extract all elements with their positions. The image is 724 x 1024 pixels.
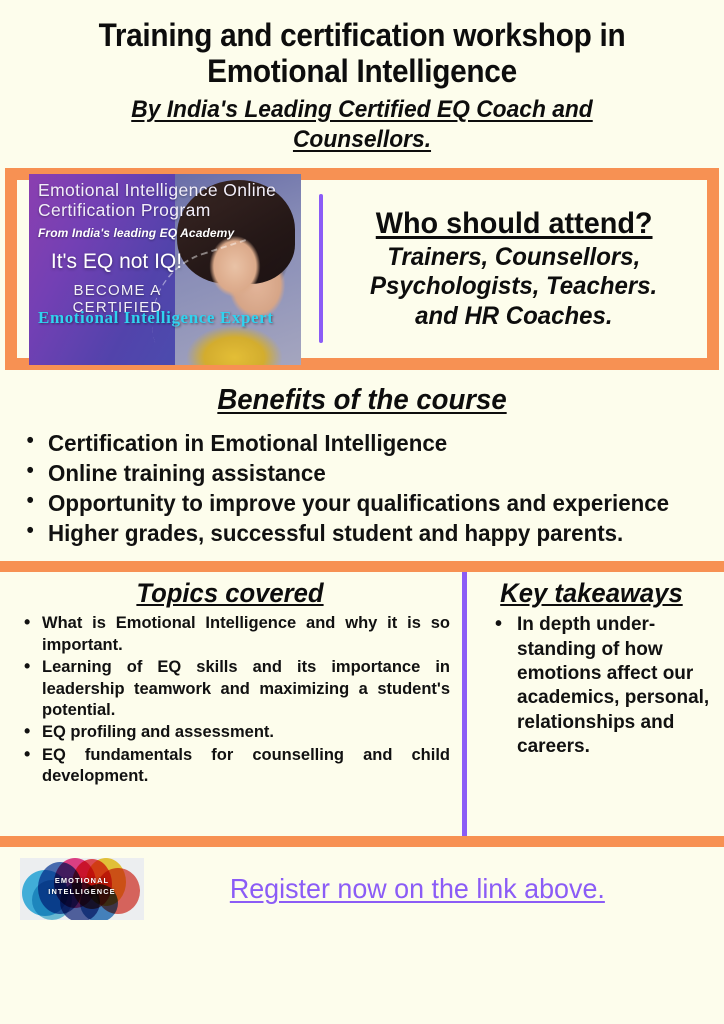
promo-card: Emotional Intelligence Online Certificat… (5, 168, 719, 370)
who-should-attend-line-1: Trainers, Counsellors, (388, 243, 641, 273)
who-should-attend-section: Who should attend? Trainers, Counsellors… (323, 185, 701, 353)
logo-caption: EMOTIONAL INTELLIGENCE (20, 876, 144, 897)
page-subtitle: By India's Leading Certified EQ Coach an… (56, 95, 668, 156)
key-takeaways-title: Key takeaways (487, 578, 710, 609)
key-takeaways-column: Key takeaways In depth under-standing of… (467, 572, 724, 836)
register-link[interactable]: Register now on the link above. (229, 873, 604, 905)
topics-covered-column: Topics covered What is Emotional Intelli… (0, 572, 462, 836)
who-should-attend-line-3: and HR Coaches. (415, 302, 612, 332)
logo-caption-line-1: EMOTIONAL (55, 876, 109, 885)
two-column-section: Topics covered What is Emotional Intelli… (0, 572, 724, 836)
benefits-list: Certification in Emotional Intelligence … (8, 429, 716, 547)
promo-academy-line: From India's leading EQ Academy (38, 226, 301, 240)
who-should-attend-line-2: Psychologists, Teachers. (370, 272, 657, 302)
who-should-attend-title: Who should attend? (376, 207, 653, 241)
register-container: Register now on the link above. (144, 873, 724, 905)
list-item: Learning of EQ skills and its importance… (42, 657, 450, 721)
topics-covered-title: Topics covered (21, 578, 439, 609)
page-header: Training and certification workshop in E… (0, 0, 724, 156)
logo-caption-line-2: INTELLIGENCE (48, 887, 115, 896)
page-title: Training and certification workshop in E… (63, 18, 662, 90)
promo-expert-line: Emotional Intelligence Expert (38, 308, 301, 328)
list-item: EQ profiling and assessment. (42, 722, 450, 743)
orange-separator-bottom (0, 836, 724, 847)
promo-headline: Emotional Intelligence Online Certificat… (38, 180, 301, 221)
list-item: EQ fundamentals for counselling and chil… (42, 745, 450, 788)
emotional-intelligence-logo: EMOTIONAL INTELLIGENCE (20, 858, 144, 920)
list-item: Online training assistance (48, 459, 686, 487)
topics-covered-list: What is Emotional Intelligence and why i… (10, 613, 450, 788)
benefits-title: Benefits of the course (26, 384, 699, 417)
orange-separator-top (0, 561, 724, 572)
key-takeaways-list: In depth under-standing of how emotions … (481, 613, 716, 759)
promo-image-container: Emotional Intelligence Online Certificat… (23, 185, 307, 353)
list-item: Certification in Emotional Intelligence (48, 429, 686, 457)
list-item: What is Emotional Intelligence and why i… (42, 613, 450, 656)
promo-slogan: It's EQ not IQ! (38, 250, 301, 274)
page-footer: EMOTIONAL INTELLIGENCE Register now on t… (0, 847, 724, 921)
list-item: Higher grades, successful student and ha… (48, 519, 686, 547)
promo-banner-image: Emotional Intelligence Online Certificat… (29, 174, 301, 365)
list-item: Opportunity to improve your qualificatio… (48, 489, 686, 517)
benefits-section: Benefits of the course Certification in … (0, 370, 724, 547)
list-item: In depth under-standing of how emotions … (517, 613, 716, 759)
